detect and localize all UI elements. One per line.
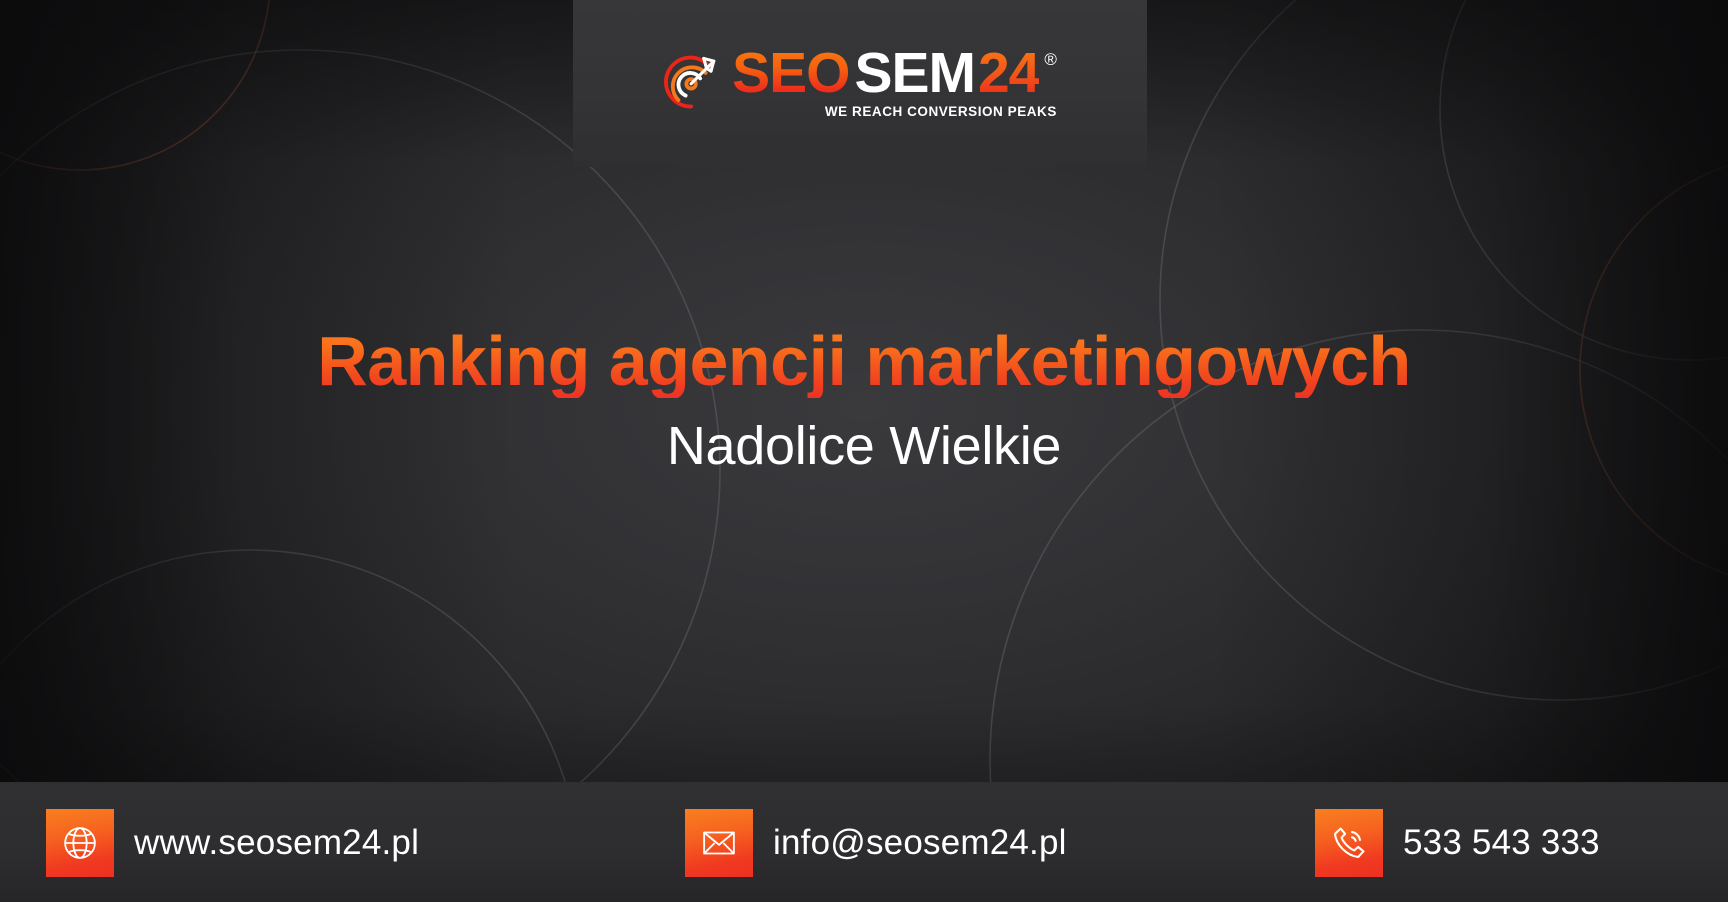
logo-panel: SEO SEM 24 ® WE REACH CONVERSION PEAKS	[573, 0, 1147, 167]
page-title: Ranking agencji marketingowych	[0, 324, 1728, 398]
logo-wordmark: SEO SEM 24 ® WE REACH CONVERSION PEAKS	[732, 45, 1057, 119]
registered-trademark-icon: ®	[1044, 45, 1057, 68]
globe-icon	[46, 809, 114, 877]
contact-website[interactable]: www.seosem24.pl	[46, 809, 419, 877]
contact-website-label: www.seosem24.pl	[134, 823, 419, 863]
target-dart-icon	[663, 53, 721, 111]
headline-block: Ranking agencji marketingowych Nadolice …	[0, 324, 1728, 477]
page-subtitle: Nadolice Wielkie	[0, 416, 1728, 476]
brand-logo: SEO SEM 24 ® WE REACH CONVERSION PEAKS	[663, 45, 1057, 119]
contact-email-label: info@seosem24.pl	[773, 823, 1067, 863]
contact-phone-label: 533 543 333	[1403, 823, 1600, 863]
logo-tagline: WE REACH CONVERSION PEAKS	[732, 104, 1057, 119]
contact-phone[interactable]: 533 543 333	[1315, 809, 1600, 877]
footer-bar: www.seosem24.pl info@seosem24.pl	[0, 782, 1728, 902]
contact-email[interactable]: info@seosem24.pl	[685, 809, 1067, 877]
slide-root: SEO SEM 24 ® WE REACH CONVERSION PEAKS R…	[0, 0, 1728, 902]
logo-word-24: 24	[978, 45, 1039, 102]
logo-word-seo: SEO	[732, 45, 849, 102]
phone-icon	[1315, 809, 1383, 877]
logo-word-sem: SEM	[854, 45, 975, 102]
envelope-icon	[685, 809, 753, 877]
